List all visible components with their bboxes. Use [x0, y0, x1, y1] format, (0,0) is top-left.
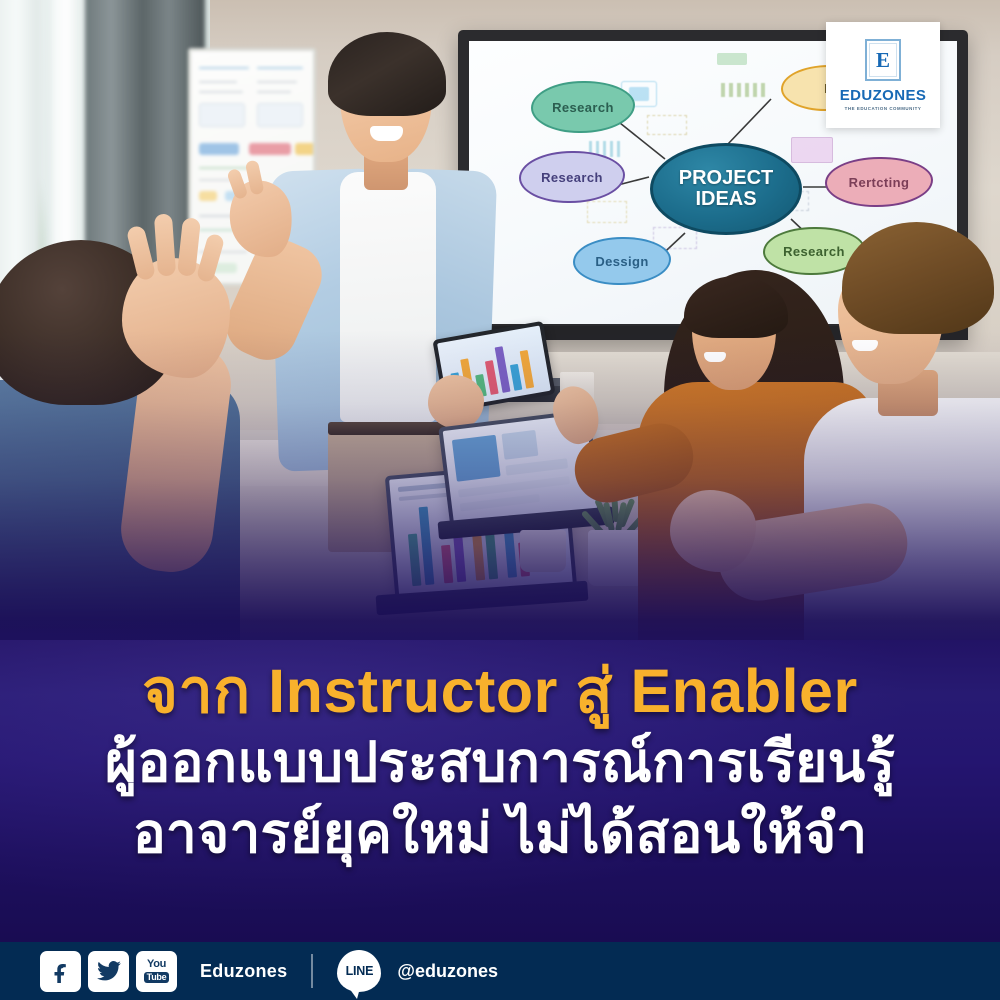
scribble: [721, 83, 767, 97]
logo-tagline: THE EDUCATION COMMUNITY: [845, 106, 922, 111]
headline: จาก Instructor สู่ Enabler ผู้ออกแบบประส…: [0, 640, 1000, 870]
sticky-note: [791, 137, 833, 163]
poster-canvas: Research Research Dessign Research Rertc…: [0, 0, 1000, 1000]
scribble: [647, 115, 687, 135]
headline-line-1: จาก Instructor สู่ Enabler: [0, 640, 1000, 727]
line-handle: @eduzones: [397, 961, 498, 982]
logo-letter-box: E: [865, 39, 901, 81]
node-label: Research: [552, 100, 614, 115]
coffee-cup: [520, 530, 566, 572]
student-man: [828, 222, 1000, 660]
center-line-2: IDEAS: [695, 189, 756, 210]
twitter-icon[interactable]: [88, 951, 129, 992]
logo-letter: E: [869, 43, 897, 77]
youtube-icon[interactable]: You Tube: [136, 951, 177, 992]
logo-name: EDUZONES: [840, 87, 927, 104]
scribble: [587, 201, 627, 223]
footer-bar: You Tube Eduzones LINE @eduzones: [0, 942, 1000, 1000]
instructor-tshirt: [340, 172, 436, 422]
line-icon-label: LINE: [346, 964, 374, 978]
brand-name: Eduzones: [200, 961, 287, 982]
student-foreground: [0, 230, 280, 660]
line-icon[interactable]: LINE: [337, 950, 381, 992]
instructor-hair: [328, 32, 446, 116]
headline-band: จาก Instructor สู่ Enabler ผู้ออกแบบประส…: [0, 640, 1000, 942]
node-label: Rertcting: [849, 175, 910, 190]
footer-divider: [311, 954, 313, 988]
center-line-1: PROJECT: [679, 168, 773, 189]
node-label: Research: [541, 170, 603, 185]
mindmap-center-node[interactable]: PROJECT IDEAS: [650, 143, 802, 235]
headline-line-2: ผู้ออกแบบประสบการณ์การเรียนรู้: [0, 727, 1000, 799]
student-man-hair: [842, 222, 994, 334]
eduzones-logo[interactable]: E EDUZONES THE EDUCATION COMMUNITY: [826, 22, 940, 128]
instructor-belt: [328, 422, 452, 435]
sticky-note: [717, 53, 747, 65]
facebook-icon[interactable]: [40, 951, 81, 992]
headline-line-3: อาจารย์ยุคใหม่ ไม่ได้สอนให้จำ: [0, 798, 1000, 870]
